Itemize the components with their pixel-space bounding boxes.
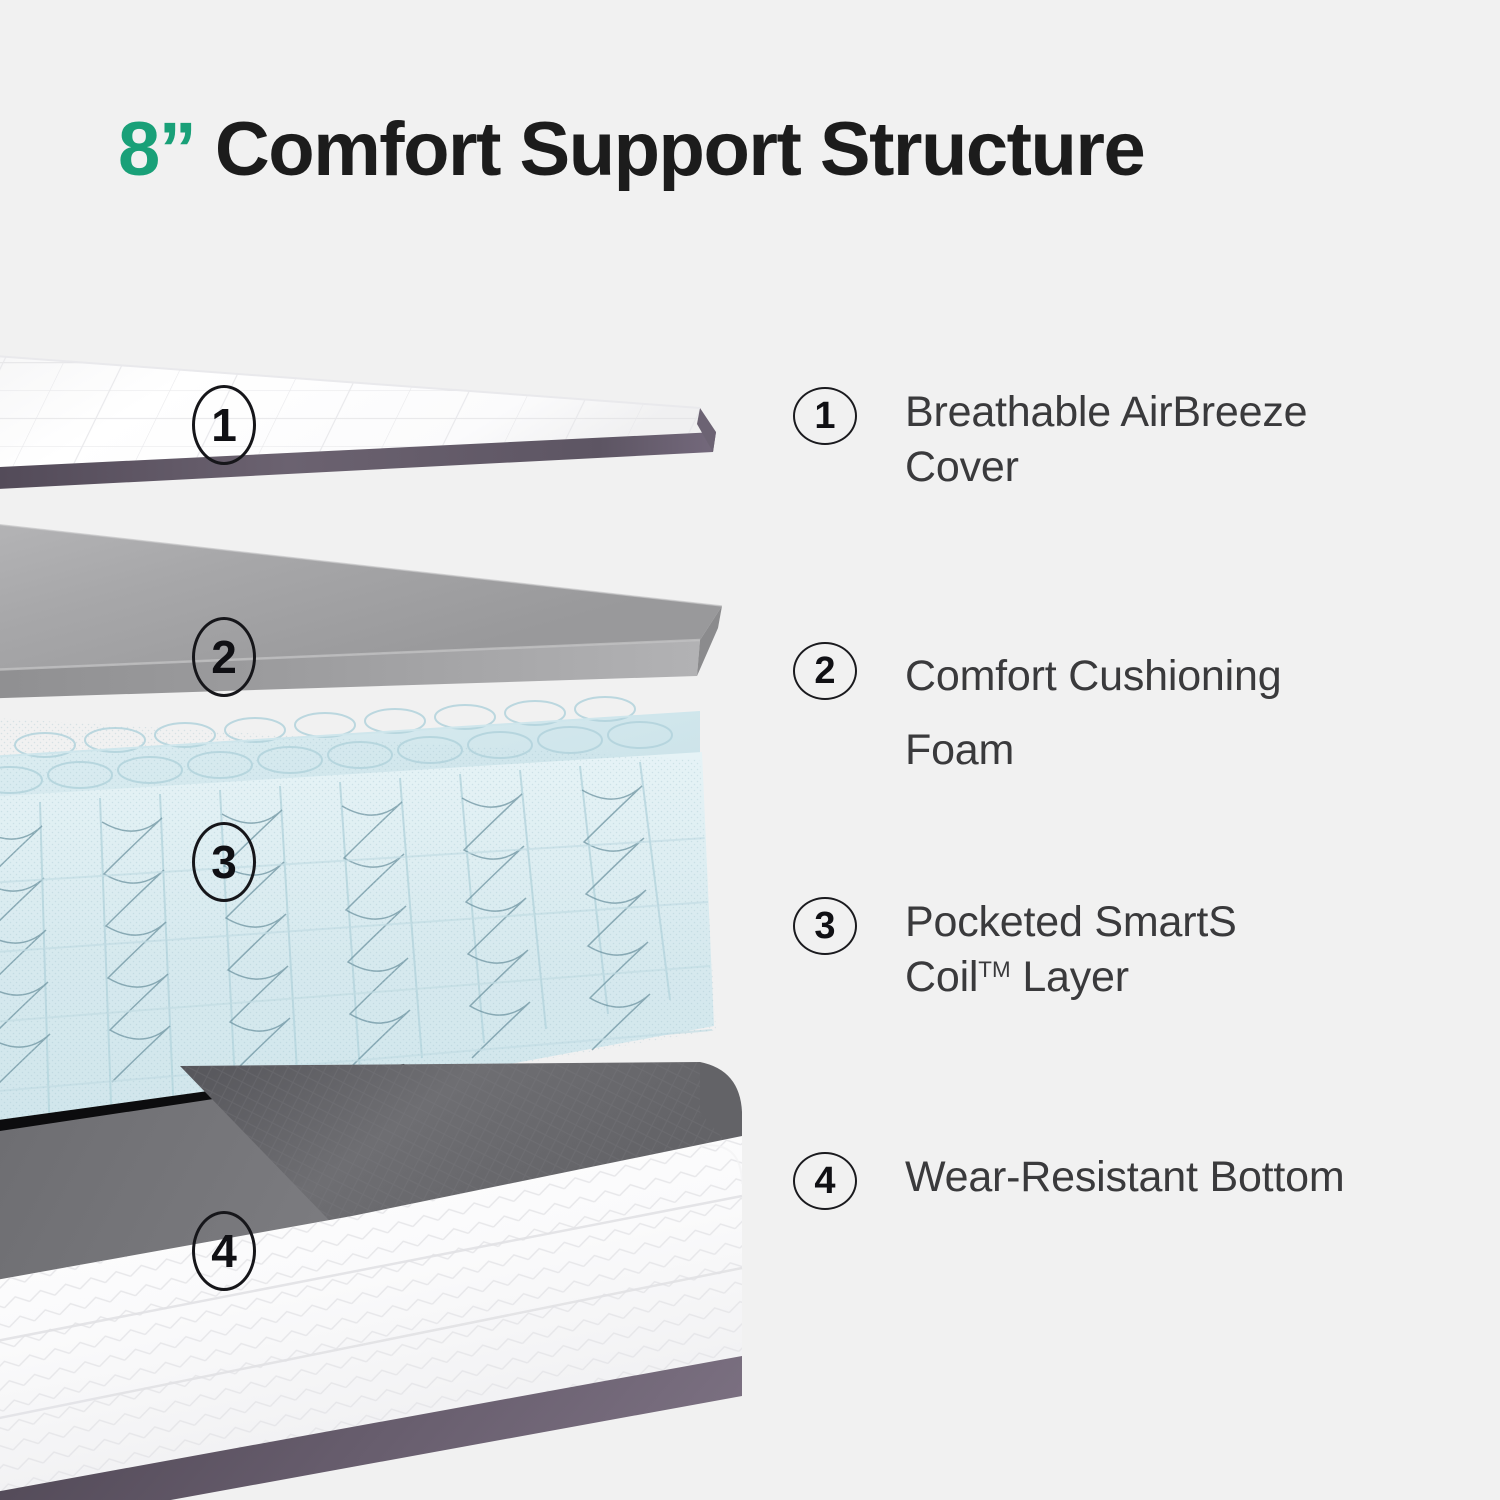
layer-callout-3: 3	[192, 822, 256, 902]
layer-4-base-graphic	[0, 1062, 742, 1500]
layer-2-foam-graphic	[0, 518, 722, 700]
layer-1-cover-graphic	[0, 352, 716, 492]
legend-badge-4: 4	[793, 1152, 857, 1210]
legend-label-1-line-1: Breathable AirBreeze	[905, 388, 1307, 436]
legend-badge-2: 2	[793, 642, 857, 700]
legend-label-1: Breathable AirBreeze Cover	[905, 385, 1307, 495]
legend-label-4-line-1: Wear-Resistant Bottom	[905, 1153, 1345, 1201]
legend-item-bottom: 4 Wear-Resistant Bottom	[793, 1150, 1345, 1210]
layer-callout-2: 2	[192, 617, 256, 697]
legend-label-3-layer: Layer	[1011, 953, 1129, 1001]
legend-label-4: Wear-Resistant Bottom	[905, 1150, 1345, 1205]
layer-callout-1: 1	[192, 385, 256, 465]
legend-label-3: Pocketed SmartS CoilTM Layer	[905, 895, 1237, 1005]
legend-item-cover: 1 Breathable AirBreeze Cover	[793, 385, 1307, 495]
legend-badge-1: 1	[793, 387, 857, 445]
legend-badge-3: 3	[793, 897, 857, 955]
layer-callout-4: 4	[192, 1211, 256, 1291]
trademark-symbol: TM	[978, 957, 1010, 982]
legend-label-3-line-1: Pocketed SmartS	[905, 898, 1237, 946]
legend-label-3-coil: Coil	[905, 953, 978, 1001]
layer-legend: 1 Breathable AirBreeze Cover 2 Comfort C…	[793, 0, 1493, 1500]
legend-label-1-line-2: Cover	[905, 443, 1019, 491]
legend-label-2-line-1: Comfort Cushioning	[905, 652, 1281, 700]
legend-label-2: Comfort Cushioning Foam	[905, 640, 1281, 788]
legend-item-coil: 3 Pocketed SmartS CoilTM Layer	[793, 895, 1237, 1005]
legend-item-foam: 2 Comfort Cushioning Foam	[793, 640, 1281, 788]
mattress-layer-illustration: 1 2 3 4	[0, 0, 780, 1500]
legend-label-2-line-2: Foam	[905, 726, 1014, 774]
